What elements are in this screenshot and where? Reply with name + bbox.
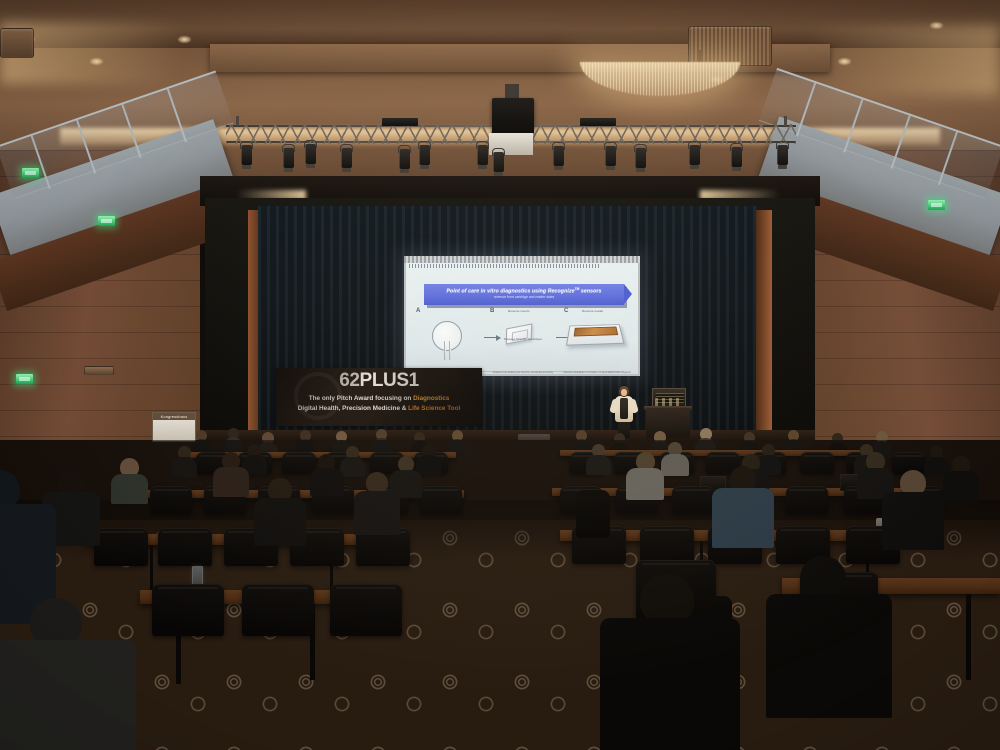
specimen-swab-illustration [432, 321, 462, 351]
audience-chair [672, 486, 714, 514]
screen-top-batten [404, 256, 640, 263]
ceiling-projector [492, 98, 534, 134]
slide-step-c: C Reverse reader Results available in mi… [560, 307, 634, 374]
stage-light-fixture [492, 146, 505, 176]
stage-light-fixture [340, 142, 353, 172]
slide-title-banner: Point of care in vitro diagnostics using… [424, 284, 624, 305]
stage-light-fixture [304, 138, 317, 168]
audience-chair [152, 584, 224, 636]
audience-chair [786, 486, 828, 514]
backpack [576, 490, 610, 538]
step-letter: C [564, 308, 568, 314]
projector-osd-strip [409, 264, 599, 268]
audience-chair [420, 486, 462, 514]
cartridge-illustration [506, 323, 533, 344]
audience-chair [242, 584, 314, 636]
projection-screen: Point of care in vitro diagnostics using… [404, 256, 640, 376]
railing-post [31, 136, 51, 190]
audience-chair [282, 452, 316, 474]
audience-chair [150, 486, 192, 514]
ceiling-downlight [90, 58, 103, 65]
railing-post [167, 89, 187, 143]
step-letter: B [490, 308, 494, 314]
conference-hall-photo: Point of care in vitro diagnostics using… [0, 0, 1000, 750]
ceiling-air-vent [0, 28, 34, 58]
railing-post [843, 99, 863, 153]
exit-sign-icon [98, 216, 115, 226]
slide-step-b: B Reverse inserts Disease Specific Cartr… [486, 307, 560, 374]
slide-surface: Point of care in vitro diagnostics using… [406, 263, 638, 374]
truss-speaker [580, 118, 616, 126]
stage-light-fixture [604, 140, 617, 170]
event-banner-62plus1: 62PLUS1 The only Pitch Award focusing on… [276, 368, 482, 426]
step-mid-label: Disease Specific Cartridges [488, 337, 558, 341]
railing-post [891, 115, 911, 169]
slide-step-a: A Non specialised specimen collection [412, 307, 486, 374]
ceiling-downlight [930, 22, 943, 29]
truss-drop-leg [236, 116, 239, 126]
exit-sign-icon [16, 374, 33, 384]
audience-chair [800, 452, 834, 474]
slide-diagram: A Non specialised specimen collection B … [406, 307, 638, 374]
venue-notice-board: Kongresshaus [152, 412, 196, 442]
stage-light-fixture [730, 141, 743, 171]
step-tag: Reverse reader [582, 309, 603, 313]
ceiling-downlight [838, 58, 851, 65]
slide-title-text: Point of care in vitro diagnostics using… [424, 287, 624, 295]
audience-chair [330, 584, 402, 636]
presenter-on-stage [612, 386, 636, 438]
notice-board-label: Kongresshaus [153, 414, 195, 419]
truss-drop-leg [784, 116, 787, 126]
side-table [646, 408, 690, 438]
stage-light-fixture [476, 139, 489, 169]
stage-light-fixture [398, 143, 411, 173]
step-tag: Reverse inserts [508, 309, 530, 313]
stage-light-fixture [418, 139, 431, 169]
railing-post [938, 132, 958, 186]
reader-device-illustration [566, 324, 625, 346]
stage-light-fixture [634, 142, 647, 172]
audience-chair [158, 528, 212, 566]
railing-post [796, 83, 816, 137]
banner-shadow-overlay [276, 368, 482, 426]
audience-chair [94, 528, 148, 566]
notice-board-header: Kongresshaus [153, 413, 195, 420]
slide-subtitle-text: revenue from cartridge and reader sales [424, 295, 624, 299]
stage-light-fixture [688, 139, 701, 169]
truss-speaker [382, 118, 418, 126]
railing-post [121, 104, 141, 158]
railing-post [76, 120, 96, 174]
exit-sign-icon [22, 168, 39, 178]
stage-light-fixture [776, 139, 789, 169]
stage-curtain-edge-right [756, 210, 772, 438]
ceiling-downlight [178, 36, 191, 43]
stage-light-fixture [240, 139, 253, 169]
audience-chair [640, 526, 694, 564]
stage-light-fixture [282, 142, 295, 172]
table-leg [966, 594, 971, 680]
step-letter: A [416, 308, 420, 314]
exit-sign-icon [928, 200, 945, 210]
wall-speaker [84, 366, 114, 375]
stage-light-fixture [552, 140, 565, 170]
